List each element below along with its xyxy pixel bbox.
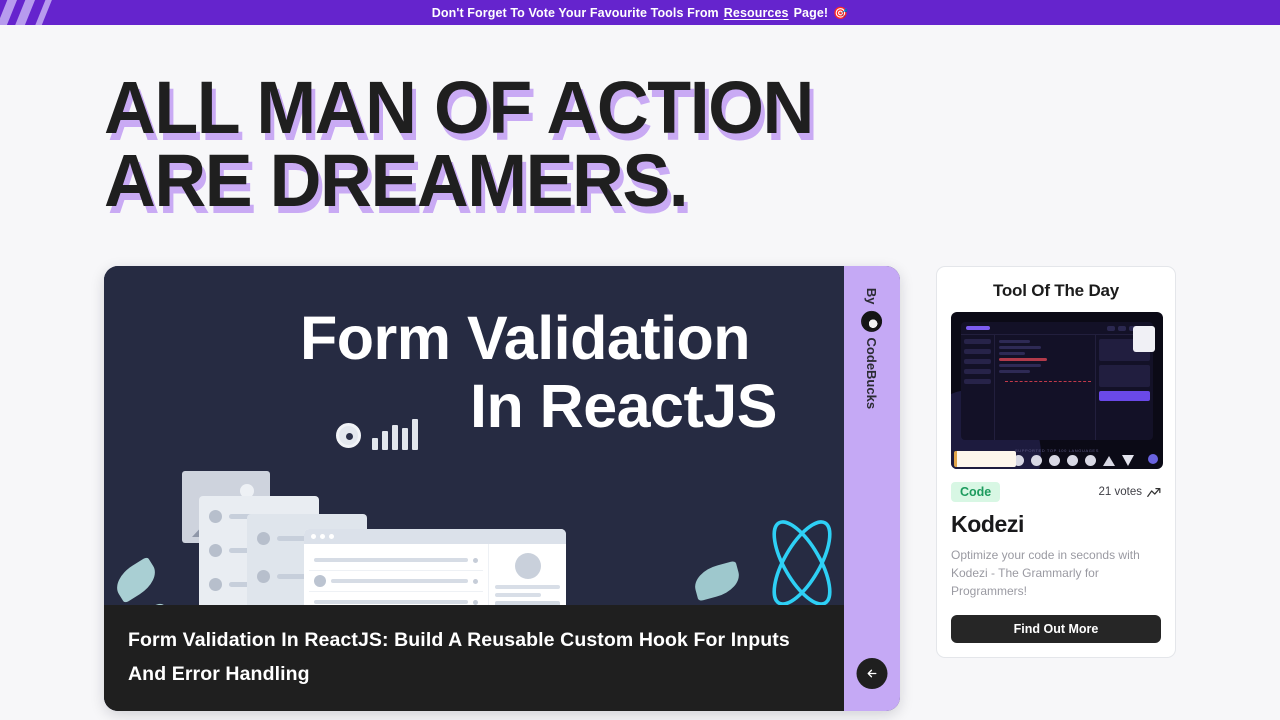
page-title: ALL MAN OF ACTION ARE DREAMERS. xyxy=(104,72,977,217)
banner-stripe-decoration xyxy=(0,0,70,25)
tool-thumbnail[interactable]: SUPPORTED TOP 100 LANGUAGES xyxy=(951,312,1163,469)
author-credit[interactable]: By CodeBucks xyxy=(862,288,883,409)
thumbnail-toast xyxy=(954,451,1016,467)
illustration-leaf xyxy=(691,561,743,602)
resources-link[interactable]: Resources xyxy=(724,6,789,20)
featured-author-rail: By CodeBucks xyxy=(844,266,900,711)
dart-emoji-icon: 🎯 xyxy=(833,7,848,19)
banner-text-after: Page! xyxy=(794,6,829,20)
back-button[interactable] xyxy=(857,658,888,689)
featured-cover: Form Validation In ReactJS Form Validati… xyxy=(104,266,844,711)
featured-article-card[interactable]: Form Validation In ReactJS Form Validati… xyxy=(104,266,900,711)
featured-caption-bar: Form Validation In ReactJS: Build A Reus… xyxy=(104,605,844,711)
cover-title-line-1: Form Validation xyxy=(300,304,844,372)
author-prefix: By xyxy=(865,288,880,305)
tool-meta-row: Code 21 votes xyxy=(951,482,1161,502)
avatar xyxy=(862,311,883,332)
announcement-banner: Don't Forget To Vote Your Favourite Tool… xyxy=(0,0,1280,25)
banner-text-before: Don't Forget To Vote Your Favourite Tool… xyxy=(432,6,719,20)
vote-count: 21 votes xyxy=(1099,486,1161,498)
status-badge[interactable]: Code xyxy=(951,482,1000,502)
react-logo-icon xyxy=(748,515,844,611)
find-out-more-button[interactable]: Find Out More xyxy=(951,615,1161,643)
cover-title-line-2: In ReactJS xyxy=(470,372,844,440)
arrow-left-icon xyxy=(866,667,879,680)
tool-name[interactable]: Kodezi xyxy=(951,511,1161,538)
tool-of-the-day-card: Tool Of The Day SUPPORTED TOP 100 LAN xyxy=(936,266,1176,658)
illustration-leaf xyxy=(110,556,162,603)
featured-article-title[interactable]: Form Validation In ReactJS: Build A Reus… xyxy=(128,624,820,691)
vote-count-label: 21 votes xyxy=(1099,486,1142,498)
author-name: CodeBucks xyxy=(865,338,880,410)
headline-line-1: ALL MAN OF ACTION xyxy=(104,72,977,145)
headline-line-2: ARE DREAMERS. xyxy=(104,145,977,218)
banner-message: Don't Forget To Vote Your Favourite Tool… xyxy=(432,6,848,20)
thumbnail-file-icon xyxy=(1133,326,1155,352)
cover-art-title: Form Validation In ReactJS xyxy=(300,304,844,441)
tool-of-the-day-heading: Tool Of The Day xyxy=(951,281,1161,301)
tool-description: Optimize your code in seconds with Kodez… xyxy=(951,546,1161,601)
trend-up-icon xyxy=(1147,487,1161,498)
thumbnail-app-window xyxy=(961,322,1153,440)
thumbnail-badge-dot xyxy=(1148,454,1158,464)
